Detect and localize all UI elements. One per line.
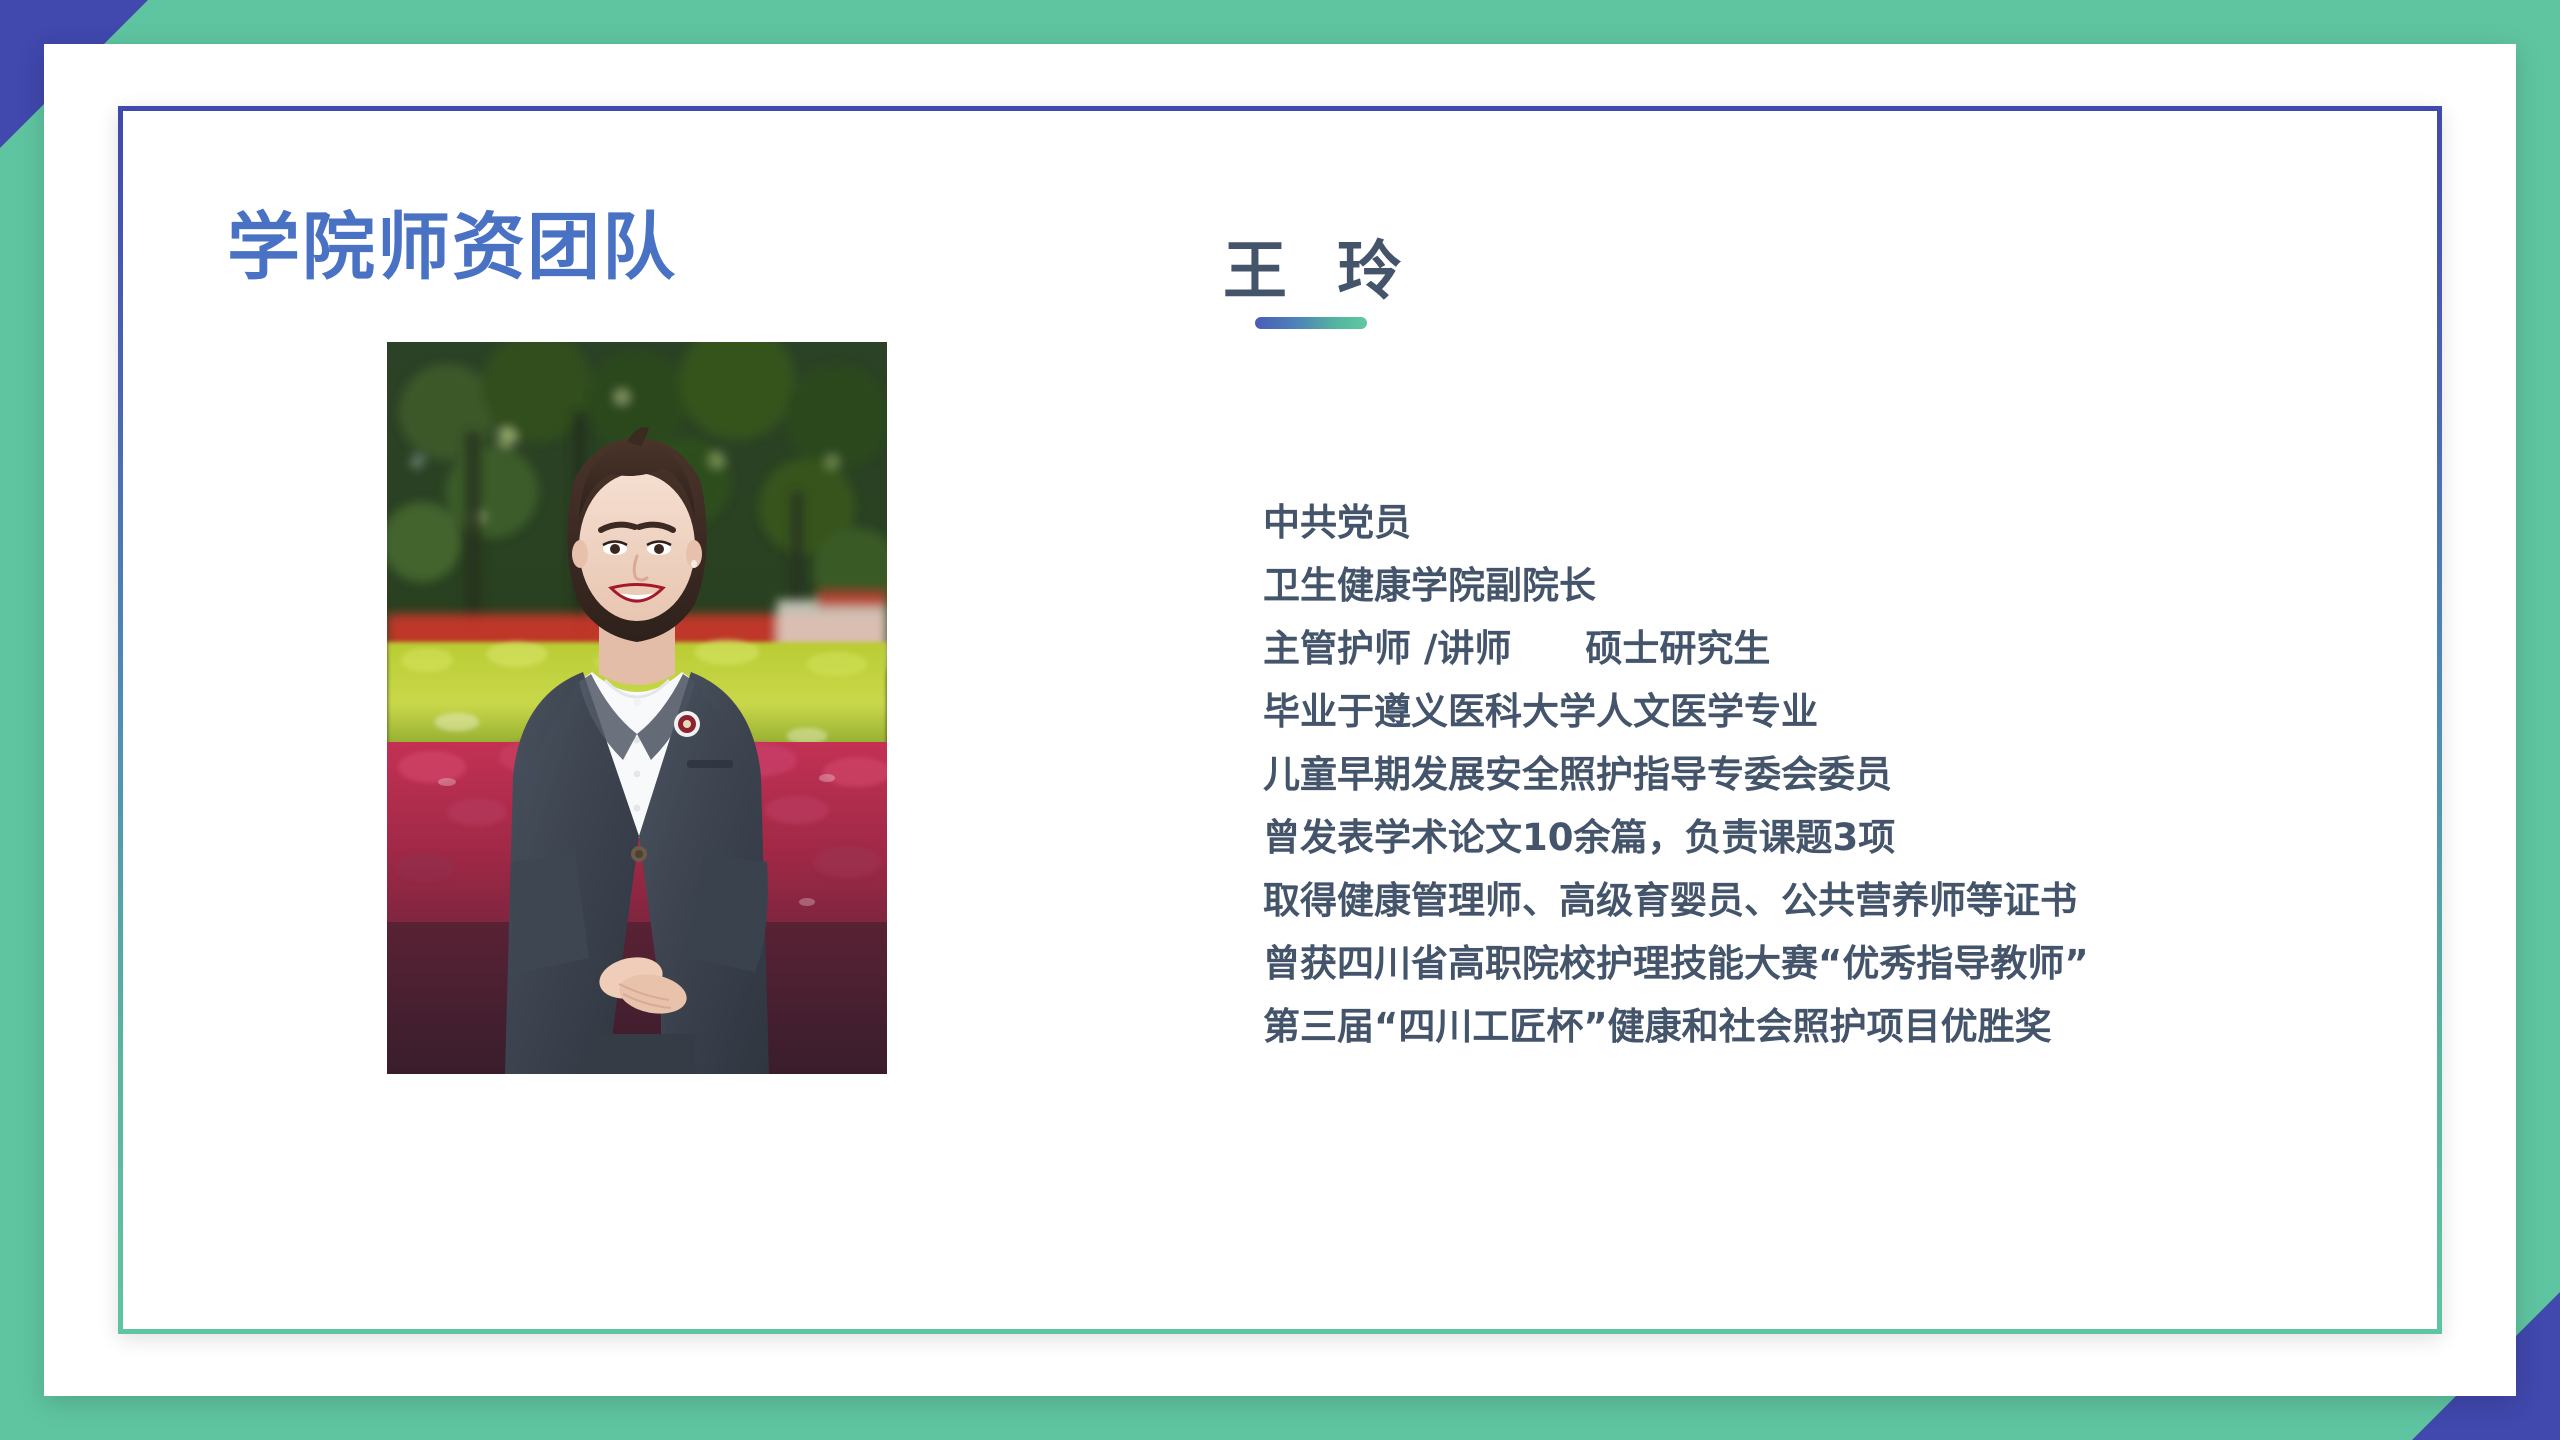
name-accent-underline [1255, 317, 1367, 329]
credential-item: 取得健康管理师、高级育婴员、公共营养师等证书 [1263, 882, 2437, 919]
instructor-portrait-photo [387, 342, 887, 1074]
page-title: 学院师资团队 [227, 188, 677, 294]
presentation-slide: 学院师资团队 [0, 0, 2560, 1440]
inner-gradient-border: 学院师资团队 [118, 106, 2442, 1334]
person-name: 王 玲 [1223, 239, 1415, 307]
credential-item: 第三届“四川工匠杯”健康和社会照护项目优胜奖 [1263, 1008, 2437, 1045]
credential-item: 曾发表学术论文10余篇，负责课题3项 [1263, 819, 2437, 856]
credential-item: 儿童早期发展安全照护指导专委会委员 [1263, 756, 2437, 793]
credentials-list: 中共党员 卫生健康学院副院长 主管护师 /讲师 硕士研究生 毕业于遵义医科大学人… [1263, 504, 2437, 1045]
slide-content-canvas: 学院师资团队 [123, 111, 2437, 1329]
slide-white-mat: 学院师资团队 [44, 44, 2516, 1396]
person-name-block: 王 玲 [1223, 239, 1415, 329]
credential-item: 中共党员 [1263, 504, 2437, 541]
credential-item: 曾获四川省高职院校护理技能大赛“优秀指导教师” [1263, 945, 2437, 982]
portrait-image [387, 342, 887, 1074]
credential-item: 主管护师 /讲师 硕士研究生 [1263, 630, 2437, 667]
credential-item: 卫生健康学院副院长 [1263, 567, 2437, 604]
credential-item: 毕业于遵义医科大学人文医学专业 [1263, 693, 2437, 730]
